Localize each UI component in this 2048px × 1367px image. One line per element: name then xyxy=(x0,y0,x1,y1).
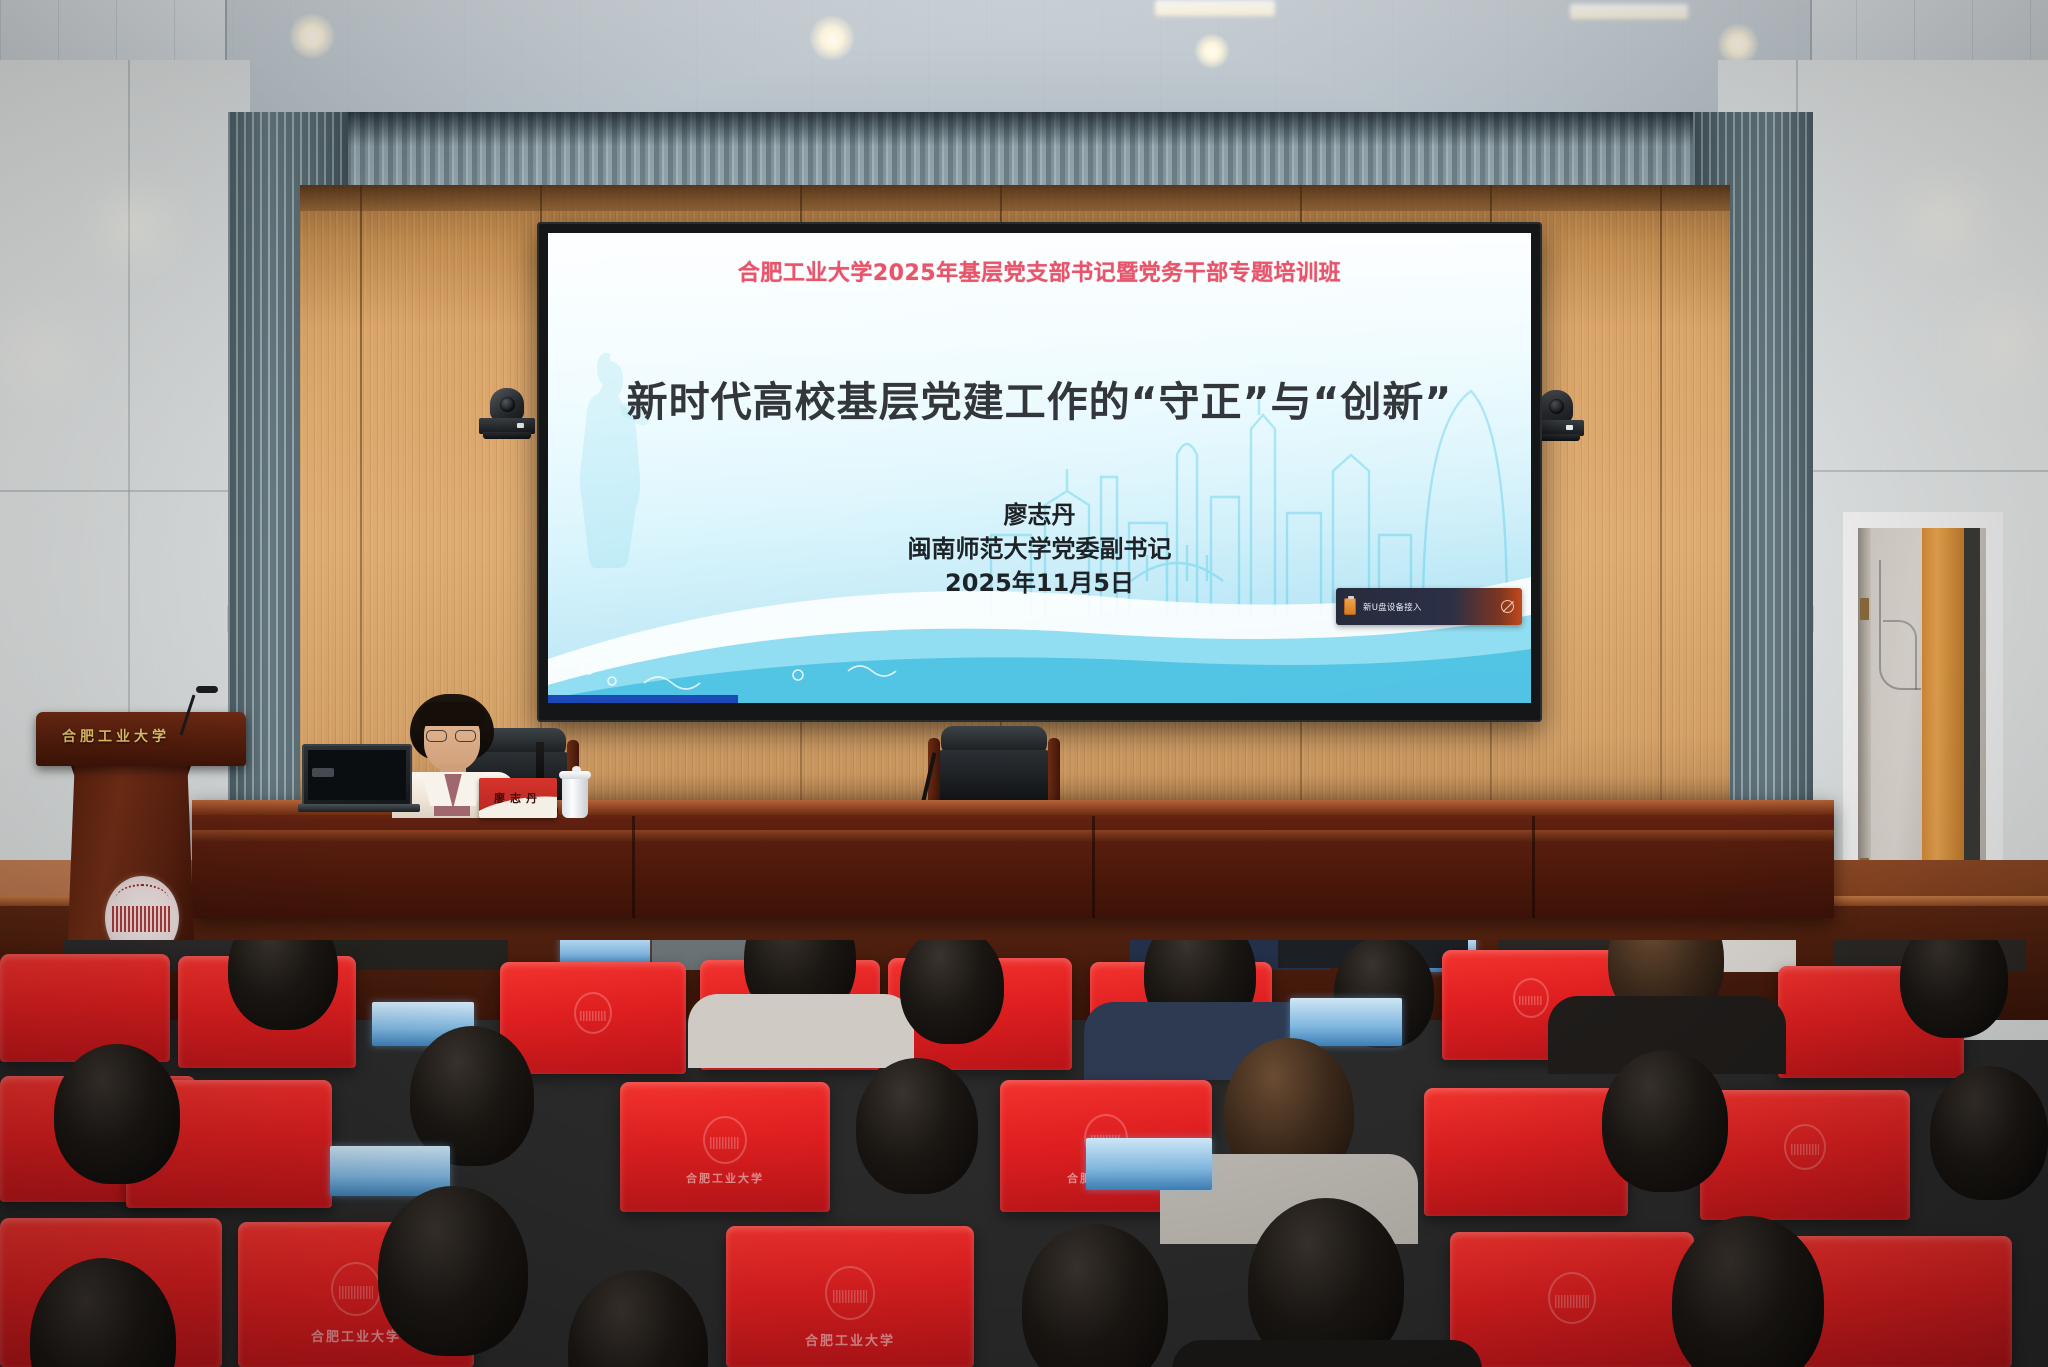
teacup xyxy=(562,776,588,818)
seat-emblem-icon xyxy=(1548,1272,1596,1324)
podium-label: 合肥工业大学 xyxy=(36,726,196,746)
usb-notification-toast[interactable]: 新U盘设备接入 xyxy=(1336,588,1522,625)
speaker-laptop[interactable] xyxy=(302,744,420,816)
curtain-top-shadow xyxy=(228,112,1813,146)
attendee-head xyxy=(378,1186,528,1356)
slide-byline: 廖志丹 闽南师范大学党委副书记 2025年11月5日 xyxy=(548,498,1531,600)
podium-top: 合肥工业大学 xyxy=(36,712,246,766)
presentation-screen[interactable]: 合肥工业大学2025年基层党支部书记暨党务干部专题培训班 新时代高校基层党建工作… xyxy=(548,233,1531,703)
toast-message: 新U盘设备接入 xyxy=(1363,601,1494,613)
wall-light-reflection xyxy=(1902,180,1988,258)
wood-panel-seam xyxy=(1660,185,1662,835)
ceiling-spotlight xyxy=(290,14,334,58)
glasses-icon xyxy=(426,730,447,742)
slide-progress-tab xyxy=(548,695,738,703)
wall-light-reflection xyxy=(0,310,70,400)
wood-panel-seam xyxy=(360,185,362,835)
attendee-head xyxy=(1930,1066,2048,1200)
seat-emblem-icon xyxy=(825,1266,875,1320)
seat-emblem-icon xyxy=(574,992,612,1034)
seat[interactable] xyxy=(1424,1088,1628,1216)
seat[interactable] xyxy=(500,962,686,1074)
presenter-title: 闽南师范大学党委副书记 xyxy=(548,532,1531,566)
slide-title-text: 新时代高校基层党建工作的“守正”与“创新” xyxy=(548,368,1531,428)
slide-header-text: 合肥工业大学2025年基层党支部书记暨党务干部专题培训班 xyxy=(548,255,1531,287)
camera-led-icon xyxy=(1566,425,1573,430)
seat[interactable]: 合肥工业大学 xyxy=(620,1082,830,1212)
door-hinge xyxy=(1860,598,1869,620)
attendee-screen xyxy=(1086,1138,1212,1190)
attendee-head xyxy=(568,1270,708,1367)
seat[interactable] xyxy=(0,954,170,1062)
seat-label: 合肥工业大学 xyxy=(620,1170,830,1186)
glasses-icon xyxy=(455,730,476,742)
wall-seam xyxy=(0,490,250,492)
seat-emblem-icon xyxy=(703,1116,747,1164)
seat[interactable] xyxy=(1700,1090,1910,1220)
attendee-head xyxy=(900,940,1004,1044)
attendee-head xyxy=(410,1026,534,1166)
door-gap-shadow xyxy=(1964,528,1980,910)
lectern-podium[interactable]: 合肥工业大学 xyxy=(36,712,246,962)
ceiling-spotlight xyxy=(810,16,854,60)
speaker-name-card: 廖志丹 xyxy=(479,778,557,818)
camera-head-icon xyxy=(490,388,524,421)
camera-mount-arm xyxy=(483,432,531,439)
name-card-text: 廖志丹 xyxy=(479,790,557,806)
camera-head-icon xyxy=(1539,390,1573,423)
attendee-shoulders xyxy=(688,994,914,1068)
camera-lens-icon xyxy=(1549,399,1564,414)
audience-area: 合肥工业大学 合肥工业大学 合肥工业大学 合肥工业大学 xyxy=(0,940,2048,1367)
wood-top-rail xyxy=(300,185,1730,211)
ceiling-spotlight xyxy=(1718,24,1758,64)
seat[interactable] xyxy=(1450,1232,1694,1367)
ceiling-light-panel xyxy=(1570,4,1688,19)
seat-emblem-icon xyxy=(331,1262,381,1316)
ptz-camera-left xyxy=(479,388,535,440)
podium-mic-head-icon xyxy=(196,686,218,693)
speaker-fringe xyxy=(418,702,486,726)
open-door-panel[interactable] xyxy=(1922,528,1964,910)
attendee-head xyxy=(1022,1224,1168,1367)
wall-light-reflection xyxy=(1968,290,2048,390)
lecture-hall-photo: 合肥工业大学2025年基层党支部书记暨党务干部专题培训班 新时代高校基层党建工作… xyxy=(0,0,2048,1367)
seat-emblem-icon xyxy=(1513,978,1549,1018)
seat[interactable]: 合肥工业大学 xyxy=(726,1226,974,1367)
presenter-name: 廖志丹 xyxy=(548,498,1531,532)
podium-column xyxy=(67,764,195,962)
attendee-head xyxy=(1602,1050,1728,1192)
attendee-head xyxy=(1900,940,2008,1038)
door-hinge-edge xyxy=(1858,528,1871,912)
ceiling-spotlight xyxy=(1195,34,1229,68)
wall-light-reflection xyxy=(92,190,172,260)
seat-label: 合肥工业大学 xyxy=(726,1330,974,1349)
hanging-cable xyxy=(1883,620,1917,690)
attendee-screen xyxy=(1290,998,1402,1046)
ceiling-light-panel xyxy=(1155,0,1275,16)
usb-drive-icon xyxy=(1344,598,1356,615)
attendee-head xyxy=(54,1044,180,1184)
seat-emblem-icon xyxy=(1784,1124,1826,1170)
attendee-shoulders xyxy=(1172,1340,1482,1367)
camera-lens-icon xyxy=(500,397,515,412)
camera-led-icon xyxy=(517,423,524,428)
attendee-head xyxy=(856,1058,978,1194)
close-icon[interactable] xyxy=(1501,600,1514,613)
